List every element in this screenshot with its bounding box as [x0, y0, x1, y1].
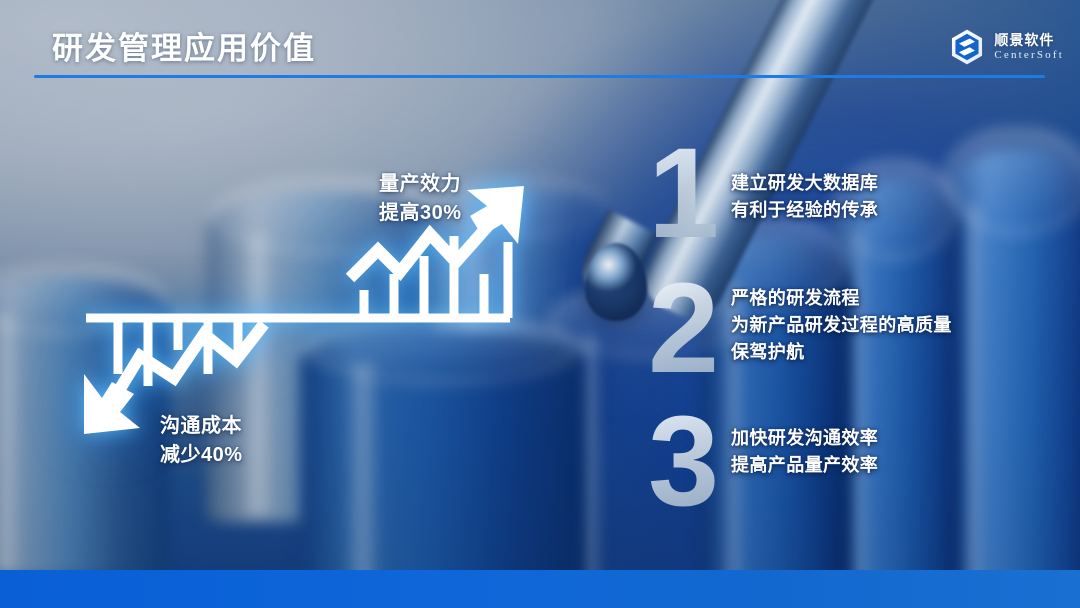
point-2-line3: 保驾护航: [731, 339, 952, 366]
point-3-line2: 提高产品量产效率: [731, 452, 878, 479]
point-text-2: 严格的研发流程 为新产品研发过程的高质量 保驾护航: [731, 285, 952, 366]
value-points-list: 1 建立研发大数据库 有利于经验的传承 2 严格的研发流程 为新产品研发过程的高…: [0, 0, 1080, 608]
point-text-3: 加快研发沟通效率 提高产品量产效率: [731, 425, 878, 479]
point-3-line1: 加快研发沟通效率: [731, 425, 878, 452]
point-2-line1: 严格的研发流程: [731, 285, 952, 312]
footer-bar: [0, 570, 1080, 608]
point-text-1: 建立研发大数据库 有利于经验的传承: [731, 170, 878, 224]
slide-root: 研发管理应用价值 顺景软件: [0, 0, 1080, 608]
point-1-line2: 有利于经验的传承: [731, 197, 878, 224]
point-number-3: 3: [648, 408, 719, 516]
point-2-line2: 为新产品研发过程的高质量: [731, 312, 952, 339]
point-number-1: 1: [648, 140, 719, 248]
point-number-2: 2: [648, 275, 719, 383]
point-1-line1: 建立研发大数据库: [731, 170, 878, 197]
